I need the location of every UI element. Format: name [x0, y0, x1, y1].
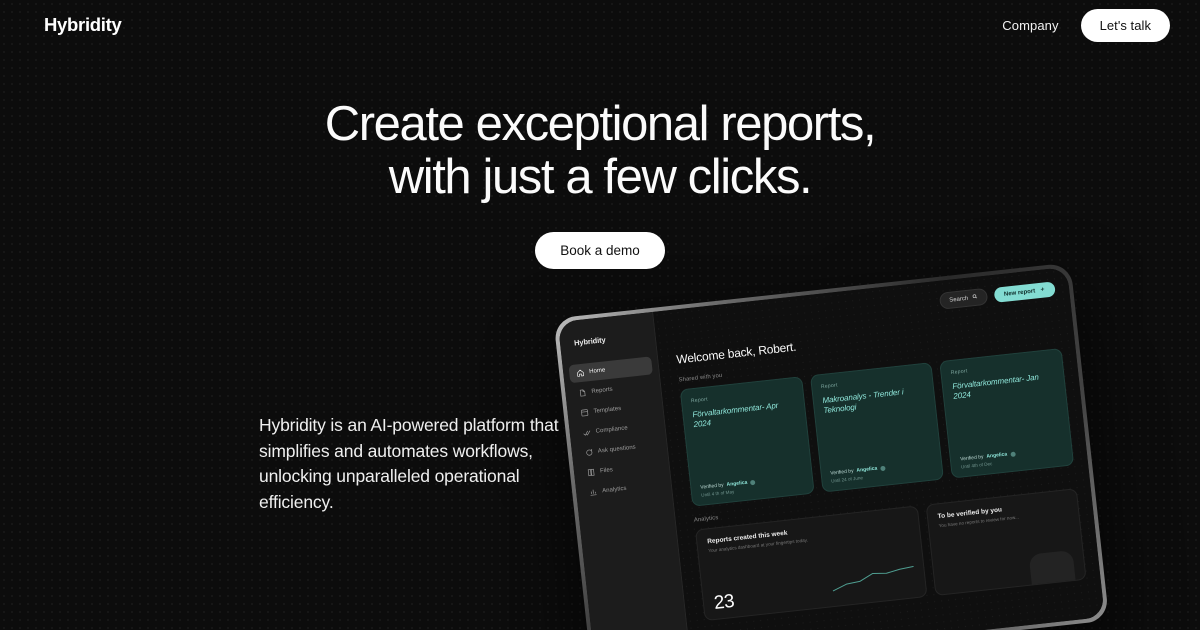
new-report-label: New report — [1004, 288, 1036, 297]
sidebar-item-label: Analytics — [602, 486, 627, 495]
avatar — [1010, 451, 1016, 457]
lets-talk-button[interactable]: Let's talk — [1081, 9, 1170, 42]
verified-by-name: Angelica — [856, 466, 877, 474]
report-card-title: Förvaltarkommentar- Jan 2024 — [952, 371, 1056, 403]
avatar — [750, 479, 756, 485]
page-title: Create exceptional reports, with just a … — [0, 98, 1200, 204]
analytics-icon — [589, 488, 598, 497]
reports-icon — [578, 389, 587, 398]
sidebar-item-label: Compliance — [595, 425, 628, 434]
primary-nav: Company Let's talk — [1002, 9, 1170, 42]
compliance-icon — [582, 428, 591, 437]
sidebar-item-label: Home — [589, 367, 606, 375]
verified-prefix: Verified by — [700, 482, 724, 490]
nav-link-company[interactable]: Company — [1002, 18, 1058, 33]
report-card[interactable]: Report Makroanalys - Trender i Teknologi… — [810, 362, 945, 493]
sparkline-chart — [829, 559, 918, 598]
analytics-card-value: 23 — [713, 591, 735, 615]
files-icon — [587, 468, 596, 477]
report-card-footer: Verified by Angelica Until 24 of June — [830, 460, 933, 484]
brand-logo[interactable]: Hybridity — [44, 14, 121, 36]
templates-icon — [580, 408, 589, 417]
laptop-mockup: Hybridity Home Reports — [553, 263, 1109, 630]
site-header: Hybridity Company Let's talk — [0, 0, 1200, 50]
report-card[interactable]: Report Förvaltarkommentar- Apr 2024 Veri… — [680, 376, 815, 507]
hero-cta-wrapper: Book a demo — [0, 232, 1200, 269]
search-icon — [972, 294, 978, 301]
hero-title-line-2: with just a few clicks. — [0, 151, 1200, 204]
hero-title-line-1: Create exceptional reports, — [0, 98, 1200, 151]
analytics-card-to-be-verified[interactable]: To be verified by you You have no report… — [925, 488, 1086, 596]
app-brand-logo: Hybridity — [560, 330, 655, 349]
sidebar-item-label: Files — [600, 467, 613, 474]
empty-state-illustration — [1029, 550, 1077, 596]
verified-prefix: Verified by — [830, 468, 854, 476]
report-card[interactable]: Report Förvaltarkommentar- Jan 2024 Veri… — [940, 348, 1075, 479]
home-icon — [576, 369, 585, 378]
verified-by-name: Angelica — [986, 451, 1007, 459]
hero-section: Create exceptional reports, with just a … — [0, 98, 1200, 269]
avatar — [880, 465, 886, 471]
sidebar-item-label: Templates — [593, 406, 621, 415]
analytics-row: Reports created this week Your analytics… — [695, 488, 1087, 621]
verified-prefix: Verified by — [960, 454, 984, 462]
plus-icon — [1040, 286, 1046, 293]
report-card-footer: Verified by Angelica Until 4 th of May — [700, 474, 803, 498]
intro-paragraph: Hybridity is an AI-powered platform that… — [259, 413, 559, 516]
report-card-title: Makroanalys - Trender i Teknologi — [822, 385, 926, 417]
sidebar-item-label: Reports — [591, 387, 613, 395]
chat-icon — [585, 448, 594, 457]
search-label: Search — [949, 295, 969, 303]
verified-by-name: Angelica — [726, 480, 747, 488]
new-report-button[interactable]: New report — [993, 281, 1056, 303]
sidebar-item-label: Ask questions — [598, 445, 636, 455]
analytics-card-reports-created[interactable]: Reports created this week Your analytics… — [695, 505, 927, 621]
app-screenshot: Hybridity Home Reports — [558, 267, 1105, 630]
report-card-footer: Verified by Angelica Until 4th of Dec — [960, 445, 1063, 469]
book-a-demo-button[interactable]: Book a demo — [535, 232, 665, 269]
search-input[interactable]: Search — [938, 288, 988, 310]
report-card-title: Förvaltarkommentar- Apr 2024 — [692, 399, 796, 431]
app-main: Search New report Welcome back, Robert. … — [653, 267, 1105, 630]
app-nav-list: Home Reports Templates — [562, 356, 671, 503]
